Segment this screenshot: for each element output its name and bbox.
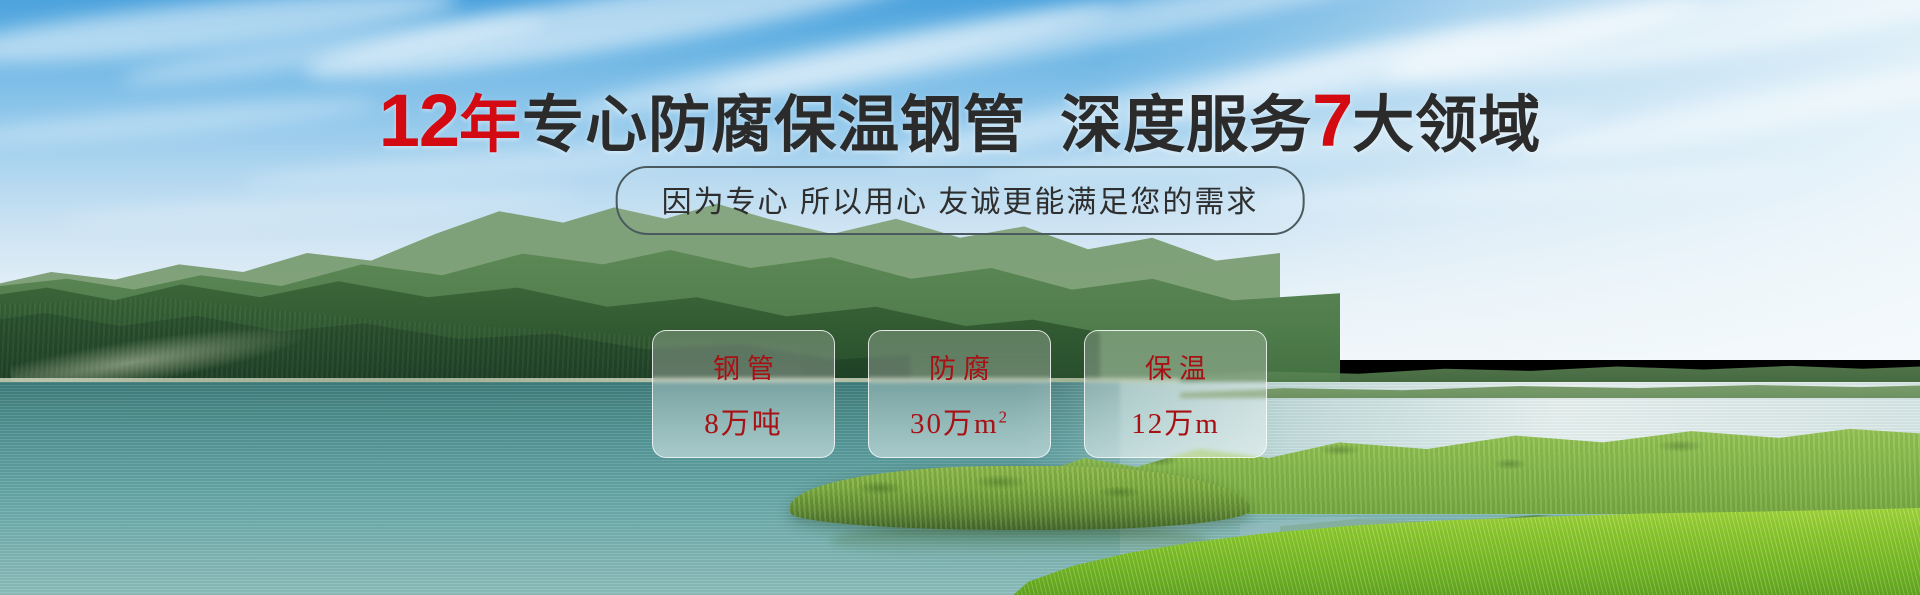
headline-segment-two: 深度服务 — [1060, 91, 1312, 160]
stat-value: 8万吨 — [704, 400, 783, 442]
headline-segment-three: 大领域 — [1352, 91, 1541, 160]
banner-headline: 12年专心防腐保温钢管深度服务7大领域 — [0, 84, 1920, 158]
stat-card-insulation: 保温 12万m — [1084, 330, 1267, 458]
stat-value: 12万m — [1131, 400, 1220, 442]
stat-value-superscript: 2 — [999, 407, 1009, 426]
stat-card-group: 钢管 8万吨 防腐 30万m2 保温 12万m — [652, 330, 1267, 458]
hero-banner: 12年专心防腐保温钢管深度服务7大领域 因为专心 所以用心 友诚更能满足您的需求… — [0, 0, 1920, 595]
banner-subtitle: 因为专心 所以用心 友诚更能满足您的需求 — [616, 166, 1305, 235]
stat-card-steel-pipe: 钢管 8万吨 — [652, 330, 835, 458]
headline-years-number: 12 — [379, 79, 459, 162]
headline-fields-number: 7 — [1312, 79, 1352, 162]
headline-years-unit: 年 — [459, 91, 522, 160]
stat-value-number: 30万m — [910, 408, 999, 440]
stat-label: 钢管 — [706, 347, 781, 386]
stat-card-anticorrosion: 防腐 30万m2 — [868, 330, 1051, 458]
stat-value: 30万m2 — [910, 400, 1009, 442]
stat-label: 保温 — [1138, 347, 1213, 386]
headline-segment-one: 专心防腐保温钢管 — [522, 91, 1026, 160]
stat-label: 防腐 — [922, 347, 997, 386]
